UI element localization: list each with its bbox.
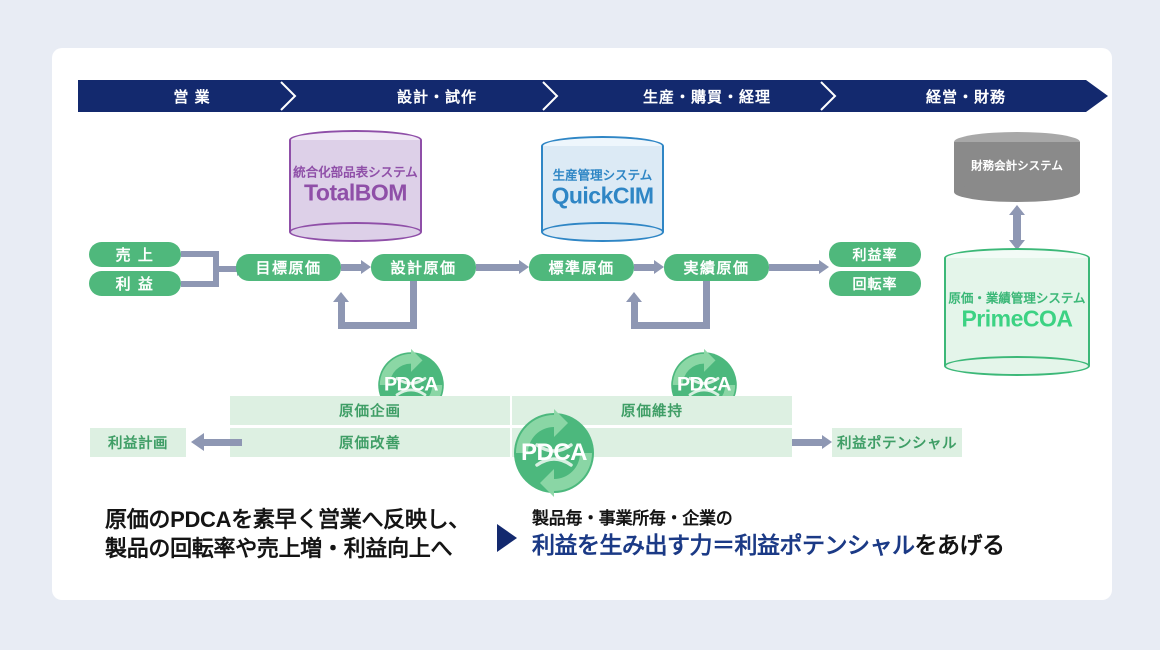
phase-production: 生産・購買・経理 <box>568 80 846 112</box>
phase-label: 生産・購買・経理 <box>643 86 771 107</box>
loop2-up <box>631 301 638 329</box>
cylinder-bottom <box>289 222 422 242</box>
system-caption: 統合化部品表システム <box>289 166 422 180</box>
pdca-cycle-overall: PDCA <box>504 403 604 503</box>
arrow-right-standard-icon <box>519 260 529 274</box>
phase-label: 設計・試作 <box>397 86 477 107</box>
caption-left-line2: 製品の回転率や売上増・利益向上へ <box>105 534 495 563</box>
system-caption: 生産管理システム <box>541 169 664 183</box>
system-quick-cim: 生産管理システム QuickCIM <box>541 136 664 242</box>
system-name: TotalBOM <box>289 180 422 206</box>
svg-text:PDCA: PDCA <box>677 374 731 396</box>
arrow-right-profit-potential-icon <box>822 435 832 449</box>
arrow-up-loop1-icon <box>333 292 349 302</box>
connector-band-to-profit-plan <box>204 439 242 446</box>
svg-text:PDCA: PDCA <box>521 439 587 466</box>
caption-right-line1: 製品毎・事業所毎・企業の <box>532 508 1092 531</box>
system-name: QuickCIM <box>541 183 664 209</box>
cost-standard: 標準原価 <box>529 254 634 281</box>
system-label: 財務会計システム <box>954 160 1080 173</box>
phase-management: 経営・財務 <box>846 80 1086 112</box>
system-total-bom: 統合化部品表システム TotalBOM <box>289 130 422 242</box>
connector-actual-to-outputs <box>769 264 821 271</box>
band-cost-planning: 原価企画 <box>230 396 510 425</box>
connector-standard-to-actual <box>634 264 656 271</box>
caption-arrow-icon <box>497 524 517 552</box>
phase-design: 設計・試作 <box>306 80 568 112</box>
phase-sales: 営 業 <box>78 80 306 112</box>
loop1-up <box>338 301 345 329</box>
cost-target: 目標原価 <box>236 254 341 281</box>
svg-text:PDCA: PDCA <box>384 374 438 396</box>
system-financial-accounting: 財務会計システム <box>954 132 1080 202</box>
cylinder-bottom <box>541 222 664 242</box>
arrow-up-loop2-icon <box>626 292 642 302</box>
arrow-right-actual-icon <box>654 260 664 274</box>
tag-profit-plan: 利益計画 <box>90 428 186 457</box>
caption-left-line1: 原価のPDCAを素早く営業へ反映し、 <box>105 505 495 534</box>
tag-profit-potential: 利益ポテンシャル <box>832 428 962 457</box>
chevron-divider-icon <box>815 80 847 112</box>
loop2-horizontal <box>631 322 710 329</box>
connector-target-to-design <box>341 264 363 271</box>
phase-bar: 営 業 設計・試作 生産・購買・経理 経営・財務 <box>78 80 1086 112</box>
system-caption: 原価・業績管理システム <box>944 292 1090 306</box>
system-label: 原価・業績管理システム PrimeCOA <box>944 292 1090 333</box>
connector-design-to-standard <box>476 264 521 271</box>
output-profit-rate: 利益率 <box>829 242 921 267</box>
pdca-icon: PDCA <box>504 403 604 503</box>
chevron-divider-icon <box>275 80 307 112</box>
input-sales: 売 上 <box>89 242 181 267</box>
loop1-horizontal <box>338 322 417 329</box>
arrow-left-profit-plan-icon <box>191 433 204 451</box>
cost-actual: 実績原価 <box>664 254 769 281</box>
band-cost-improvement: 原価改善 <box>230 428 510 457</box>
arrow-right-outputs-icon <box>819 260 829 274</box>
caption-right-line2: 利益を生み出す力＝利益ポテンシャルをあげる <box>532 531 1092 561</box>
phase-label: 営 業 <box>173 86 210 107</box>
output-turnover-rate: 回転率 <box>829 271 921 296</box>
bracket-stem <box>213 266 237 272</box>
phase-label: 経営・財務 <box>926 86 1006 107</box>
system-label: 統合化部品表システム TotalBOM <box>289 166 422 207</box>
connector-band-to-profit-potential <box>792 439 824 446</box>
caption-right-suffix: をあげる <box>915 532 1005 558</box>
arrow-right-design-icon <box>361 260 371 274</box>
caption-right-profit-potential: 利益ポテンシャル <box>735 532 915 558</box>
system-prime-coa: 原価・業績管理システム PrimeCOA <box>944 248 1090 376</box>
phase-bar-tip-icon <box>1086 80 1108 112</box>
arrow-up-financial-icon <box>1009 205 1025 215</box>
input-profit: 利 益 <box>89 271 181 296</box>
caption-right: 製品毎・事業所毎・企業の 利益を生み出す力＝利益ポテンシャルをあげる <box>532 508 1092 561</box>
system-caption: 財務会計システム <box>954 160 1080 173</box>
cost-design: 設計原価 <box>371 254 476 281</box>
cylinder-bottom <box>954 182 1080 202</box>
system-label: 生産管理システム QuickCIM <box>541 169 664 210</box>
connector-financial-vertical <box>1013 213 1021 241</box>
caption-right-profit-power: 利益を生み出す力 <box>532 532 712 558</box>
caption-left: 原価のPDCAを素早く営業へ反映し、 製品の回転率や売上増・利益向上へ <box>105 505 495 564</box>
chevron-divider-icon <box>537 80 569 112</box>
system-name: PrimeCOA <box>944 306 1090 332</box>
caption-right-equals: ＝ <box>712 532 735 558</box>
cylinder-bottom <box>944 356 1090 376</box>
